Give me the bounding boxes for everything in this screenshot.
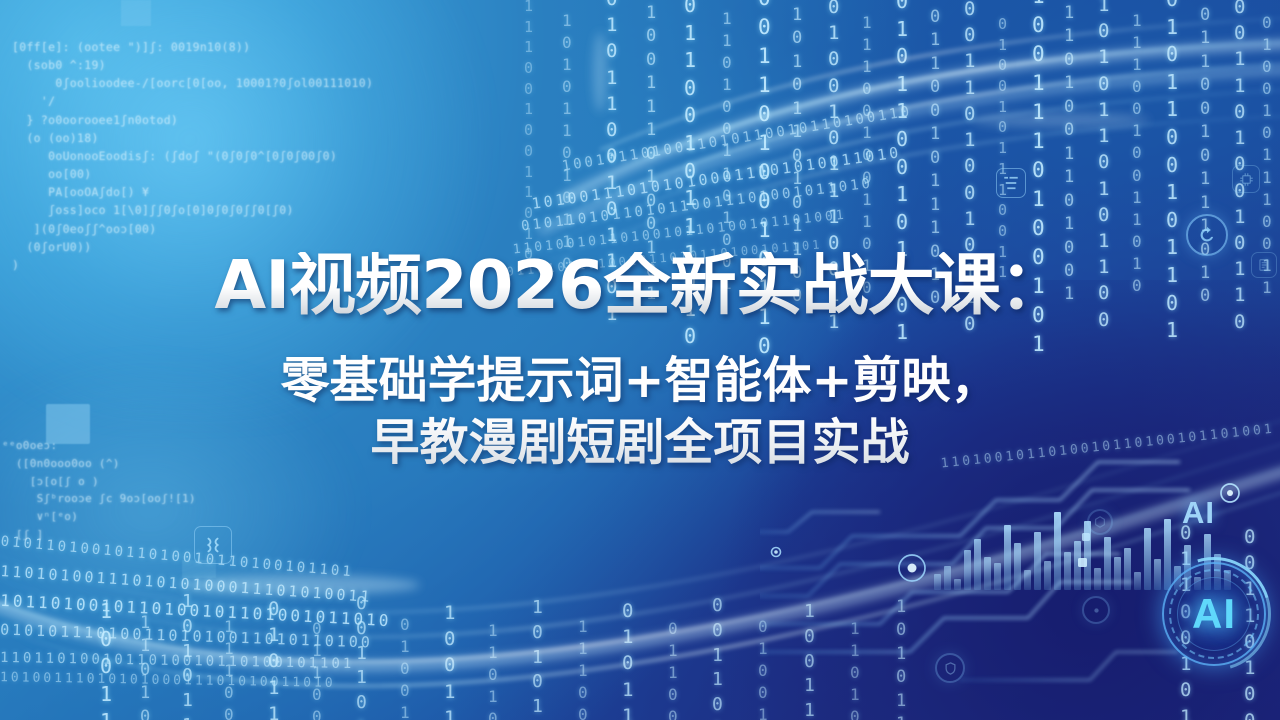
chip-icon-glyph [1239,172,1254,187]
wave-icon [194,526,232,564]
poster-subtitle-line-2: 早教漫剧短剧全项目实战 [0,412,1280,474]
cart-icon [996,168,1026,198]
decorative-code-block-top-left: [0ff[e]: (ootee ")]ʃ: 0019n10(8)) (sob0 … [12,38,373,274]
headline-block: AI视频2026全新实战大课： [0,252,1280,319]
refresh-icon-glyph [1196,224,1218,246]
wave-icon-glyph [202,534,224,556]
refresh-icon [1186,214,1228,256]
ai-label: AI [1182,495,1215,531]
cart-icon-glyph [1002,174,1020,192]
ai-badge: AI [1162,562,1266,666]
poster-title: AI视频2026全新实战大课： [0,252,1280,319]
poster-canvas: 0 1 0 1 1 0 0 1 0 1 1 0 11 0 0 1 1 1 0 1… [0,0,1280,720]
poster-subtitle: 零基础学提示词+智能体+剪映， 早教漫剧短剧全项目实战 [0,350,1280,473]
subtitle-block: 零基础学提示词+智能体+剪映， 早教漫剧短剧全项目实战 [0,350,1280,473]
decorative-square-top-left [121,0,151,26]
chip-icon [1232,165,1260,193]
poster-subtitle-line-1: 零基础学提示词+智能体+剪映， [0,350,1280,412]
ai-badge-label: AI [1192,590,1236,638]
